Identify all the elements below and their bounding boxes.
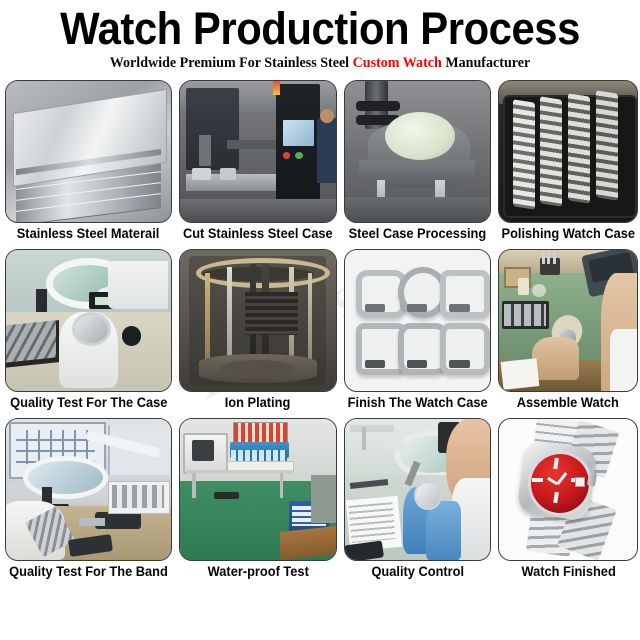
process-step-9-caption: Quality Test For The Band — [9, 561, 168, 583]
cnc-machining-center-photo[interactable] — [179, 80, 337, 223]
subtitle-text-after: Manufacturer — [442, 55, 530, 71]
process-step-7-caption: Finish The Watch Case — [347, 392, 487, 414]
polishing-parts-tray-photo[interactable] — [498, 80, 639, 223]
process-step-9[interactable]: Quality Test For The Band — [5, 418, 172, 583]
band-inspection-magnifier-photo[interactable] — [5, 418, 172, 561]
process-step-1[interactable]: Stainless Steel Materail — [5, 80, 172, 245]
quality-control-inspector-photo[interactable] — [344, 418, 491, 561]
process-step-10[interactable]: Water-proof Test — [179, 418, 337, 583]
process-step-2[interactable]: Cut Stainless Steel Case — [179, 80, 337, 245]
process-step-4-caption: Polishing Watch Case — [501, 223, 635, 245]
finished-watch-cases-photo[interactable] — [344, 249, 491, 392]
process-step-1-caption: Stainless Steel Materail — [17, 223, 160, 245]
process-step-5-caption: Quality Test For The Case — [10, 392, 167, 414]
process-step-7[interactable]: Finish The Watch Case — [344, 249, 491, 414]
process-step-8-caption: Assemble Watch — [517, 392, 619, 414]
process-step-5[interactable]: Quality Test For The Case — [5, 249, 172, 414]
process-step-12[interactable]: Watch Finished — [498, 418, 639, 583]
process-step-2-caption: Cut Stainless Steel Case — [183, 223, 333, 245]
page-title: Watch Production Process — [22, 0, 617, 52]
stainless-steel-sheets-photo[interactable] — [5, 80, 172, 223]
subtitle-text-before: Worldwide Premium For Stainless Steel — [110, 55, 353, 71]
page-header: Watch Production Process Worldwide Premi… — [0, 0, 640, 71]
ion-plating-chamber-photo[interactable] — [179, 249, 337, 392]
process-step-10-caption: Water-proof Test — [207, 561, 308, 583]
process-step-12-caption: Watch Finished — [521, 561, 615, 583]
subtitle-accent-text: Custom Watch — [353, 55, 442, 71]
process-step-8[interactable]: Assemble Watch — [498, 249, 639, 414]
process-step-11-caption: Quality Control — [371, 561, 464, 583]
process-step-6-caption: Ion Plating — [225, 392, 291, 414]
process-step-grid: Stainless Steel Materail Cu — [0, 80, 640, 583]
watchmaker-assembly-photo[interactable] — [498, 249, 639, 392]
process-step-3-caption: Steel Case Processing — [348, 223, 486, 245]
waterproof-test-lab-photo[interactable] — [179, 418, 337, 561]
finished-red-dial-watch-photo[interactable] — [498, 418, 639, 561]
case-inspection-caliper-photo[interactable] — [5, 249, 172, 392]
page-subtitle: Worldwide Premium For Stainless Steel Cu… — [10, 55, 631, 71]
process-step-6[interactable]: Ion Plating — [179, 249, 337, 414]
case-machining-coolant-photo[interactable] — [344, 80, 491, 223]
process-step-4[interactable]: Polishing Watch Case — [498, 80, 639, 245]
process-step-3[interactable]: Steel Case Processing — [344, 80, 491, 245]
process-step-11[interactable]: Quality Control — [344, 418, 491, 583]
